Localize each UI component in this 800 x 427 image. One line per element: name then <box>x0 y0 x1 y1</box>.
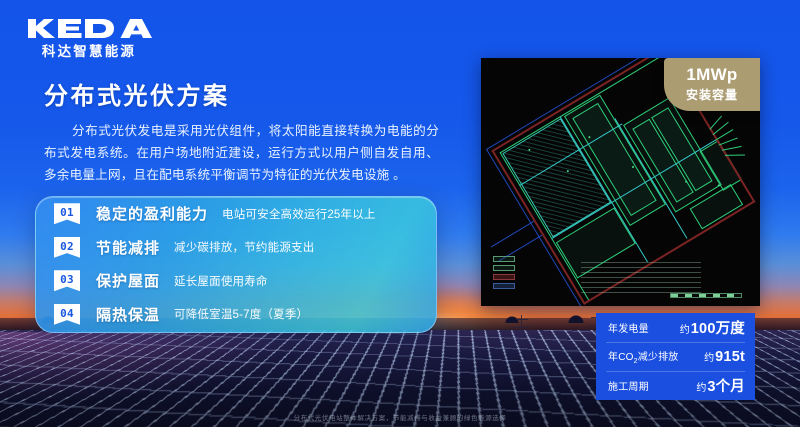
stat-value: 约 915t <box>704 349 745 365</box>
page-title: 分布式光伏方案 <box>44 76 230 111</box>
badge-shield-icon: 04 <box>54 304 80 325</box>
stat-row: 年CO2减少排放 约 915t <box>596 342 755 371</box>
cad-connection-stub <box>719 137 738 145</box>
feature-description: 减少碳排放，节约能源支出 <box>174 239 314 255</box>
stat-label: 年CO2减少排放 <box>608 348 679 365</box>
cad-connection-stub <box>722 146 742 151</box>
feature-title: 隔热保温 <box>96 304 160 325</box>
feature-number: 04 <box>60 308 74 319</box>
capacity-badge: 1MWp 安装容量 <box>664 58 760 111</box>
feature-title: 节能减排 <box>96 237 160 258</box>
feature-description: 延长屋面使用寿命 <box>174 273 268 289</box>
stat-prefix: 约 <box>696 379 706 394</box>
cad-legend-swatch <box>493 283 515 289</box>
brand-name-cn: 科达智慧能源 <box>26 40 152 60</box>
feature-item[interactable]: 02 节能减排 减少碳排放，节约能源支出 <box>36 231 436 265</box>
brand-logo: 科达智慧能源 <box>26 17 152 60</box>
badge-shield-icon: 02 <box>54 237 80 258</box>
cad-scale-bar <box>670 293 742 298</box>
feature-item[interactable]: 03 保护屋面 延长屋面使用寿命 <box>36 264 436 298</box>
cad-notes-block <box>581 262 701 296</box>
intro-paragraph: 分布式光伏发电是采用光伏组件，将太阳能直接转换为电能的分布式发电系统。在用户场地… <box>44 120 439 186</box>
feature-title: 稳定的盈利能力 <box>96 203 208 224</box>
stat-prefix: 约 <box>680 321 690 336</box>
badge-shield-icon: 01 <box>54 203 80 224</box>
cad-legend <box>493 256 559 292</box>
cad-legend-swatch <box>493 256 515 262</box>
stat-label: 施工周期 <box>608 378 649 393</box>
stat-value: 约 3个月 <box>696 375 745 396</box>
stat-label-tail: 减少排放 <box>638 352 679 363</box>
stat-number: 100万度 <box>691 317 745 338</box>
stat-value: 约 100万度 <box>680 317 745 338</box>
badge-shield-icon: 03 <box>54 270 80 291</box>
feature-description: 可降低室温5-7度（夏季） <box>174 306 308 322</box>
feature-title: 保护屋面 <box>96 270 160 291</box>
feature-item[interactable]: 04 隔热保温 可降低室温5-7度（夏季） <box>36 298 436 332</box>
stat-label: 年发电量 <box>608 320 649 335</box>
capacity-value: 1MWp <box>686 66 737 84</box>
stat-number: 3个月 <box>707 375 745 396</box>
slide-canvas: 科达智慧能源 分布式光伏方案 分布式光伏发电是采用光伏组件，将太阳能直接转换为电… <box>0 0 800 427</box>
feature-number: 02 <box>60 241 74 252</box>
feature-number: 03 <box>60 274 74 285</box>
cad-connection-stub <box>725 155 745 156</box>
stats-panel: 年发电量 约 100万度 年CO2减少排放 约 915t 施工周期 约 3个月 <box>596 313 755 400</box>
cad-legend-swatch <box>493 265 515 271</box>
feature-number: 01 <box>60 207 74 218</box>
stat-number: 915t <box>715 349 745 365</box>
keda-wordmark-icon <box>26 17 152 39</box>
feature-description: 电站可安全高效运行25年以上 <box>222 206 376 222</box>
cad-legend-swatch <box>493 274 515 280</box>
stat-row: 年发电量 约 100万度 <box>596 313 755 342</box>
footer-watermark: 分布式光伏电站整体解决方案，节能减排与收益兼顾的绿色能源选择 <box>0 412 800 422</box>
stat-label-head: 年CO <box>608 352 634 363</box>
stat-row: 施工周期 约 3个月 <box>596 371 755 400</box>
cad-site-plan-image: 1MWp 安装容量 <box>481 58 760 306</box>
feature-list-panel: 01 稳定的盈利能力 电站可安全高效运行25年以上 02 节能减排 减少碳排放，… <box>35 196 437 333</box>
feature-item[interactable]: 01 稳定的盈利能力 电站可安全高效运行25年以上 <box>36 197 436 231</box>
stat-prefix: 约 <box>704 349 714 364</box>
capacity-label: 安装容量 <box>686 86 738 103</box>
